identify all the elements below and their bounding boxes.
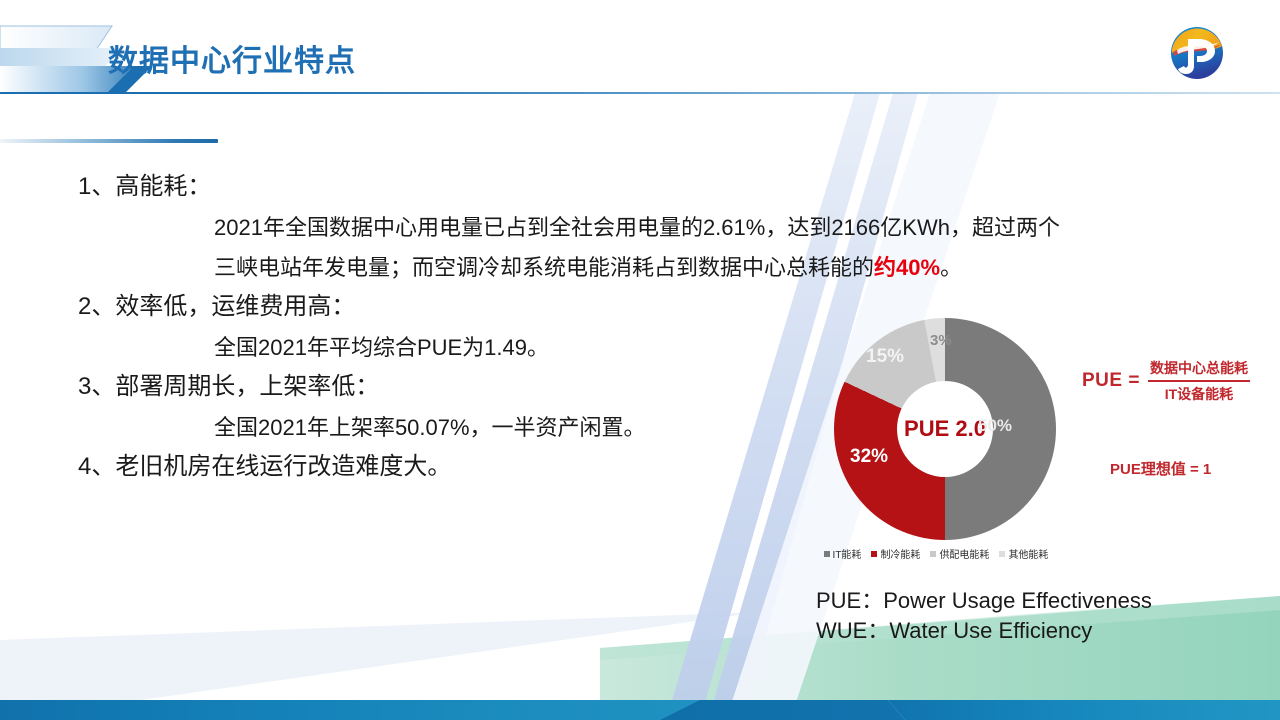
formula-numerator: 数据中心总能耗 (1148, 358, 1250, 380)
header-divider (0, 92, 1280, 94)
list-item-1-body-post: 。 (940, 255, 962, 280)
list-item-1-highlight: 约40% (874, 255, 940, 280)
pue-donut-chart: PUE 2.0 50% 32% 15% 3% IT能耗 制冷能耗 供配电能耗 其… (800, 318, 1068, 570)
legend-item-it: IT能耗 (824, 546, 862, 561)
formula-lhs: PUE = (1082, 370, 1140, 392)
formula-denominator: IT设备能耗 (1163, 382, 1235, 404)
glossary-pue: PUE：Power Usage Effectiveness (816, 586, 1152, 616)
list-item-3-body: 全国2021年上架率50.07%，一半资产闲置。 (78, 408, 798, 448)
legend-label-cooling: 制冷能耗 (880, 546, 920, 561)
slice-label-other: 3% (930, 332, 952, 349)
slide-canvas: 数据中心行业特点 1、高能耗： 2021年全国数据中心用电量已占到全社会用电量的… (0, 0, 1280, 720)
list-item-3-head: 3、部署周期长，上架率低： (78, 368, 798, 406)
slice-label-power: 15% (866, 346, 904, 368)
legend-label-other: 其他能耗 (1008, 546, 1048, 561)
pue-ideal-value: PUE理想值 = 1 (1110, 458, 1211, 479)
title-underline (0, 139, 218, 143)
legend-item-power: 供配电能耗 (930, 546, 989, 561)
list-item-4-head: 4、老旧机房在线运行改造难度大。 (78, 448, 798, 486)
slice-label-it: 50% (978, 416, 1012, 436)
content-list: 1、高能耗： 2021年全国数据中心用电量已占到全社会用电量的2.61%，达到2… (78, 168, 798, 488)
chart-legend: IT能耗 制冷能耗 供配电能耗 其他能耗 (810, 546, 1062, 561)
list-item-1-head: 1、高能耗： (78, 168, 798, 206)
glossary-wue: WUE：Water Use Efficiency (816, 616, 1152, 646)
legend-swatch-other (999, 551, 1005, 557)
glossary-block: PUE：Power Usage Effectiveness WUE：Water … (816, 586, 1152, 646)
formula-fraction: 数据中心总能耗 IT设备能耗 (1148, 358, 1250, 404)
list-item-2-head: 2、效率低，运维费用高： (78, 288, 798, 326)
legend-label-power: 供配电能耗 (939, 546, 989, 561)
page-title: 数据中心行业特点 (108, 36, 356, 80)
legend-item-other: 其他能耗 (999, 546, 1048, 561)
donut-center-label: PUE 2.0 (904, 416, 986, 442)
list-item-2-body: 全国2021年平均综合PUE为1.49。 (78, 328, 798, 368)
slice-label-cooling: 32% (850, 446, 888, 468)
company-globe-logo (1163, 22, 1231, 84)
legend-swatch-it (824, 551, 830, 557)
legend-label-it: IT能耗 (833, 546, 862, 561)
legend-item-cooling: 制冷能耗 (871, 546, 920, 561)
legend-swatch-cooling (871, 551, 877, 557)
list-item-1-body: 2021年全国数据中心用电量已占到全社会用电量的2.61%，达到2166亿KWh… (78, 208, 1074, 288)
legend-swatch-power (930, 551, 936, 557)
pue-formula: PUE = 数据中心总能耗 IT设备能耗 (1082, 358, 1250, 404)
